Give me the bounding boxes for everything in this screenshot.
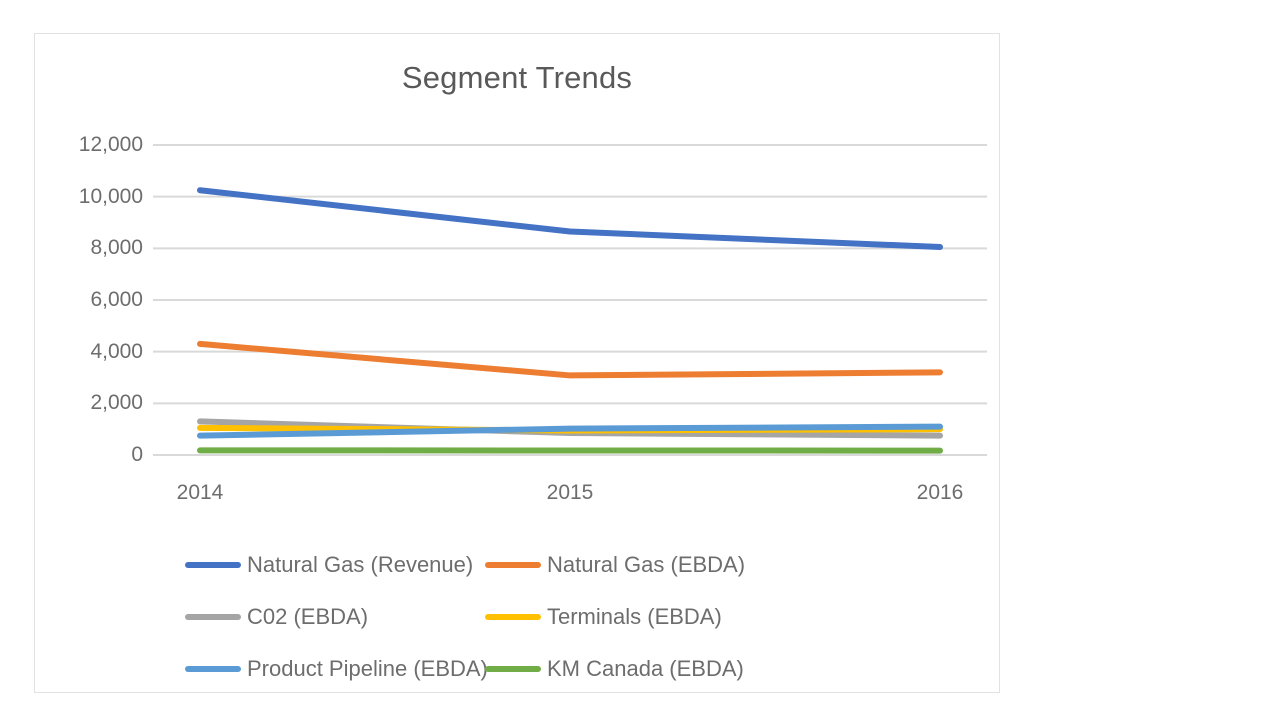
- legend-item-terminals-ebda[interactable]: Terminals (EBDA): [485, 606, 785, 628]
- legend-swatch-product-pipeline-ebda: [185, 666, 241, 672]
- legend-item-product-pipeline-ebda[interactable]: Product Pipeline (EBDA): [185, 658, 485, 680]
- legend-label-product-pipeline-ebda: Product Pipeline (EBDA): [247, 658, 488, 680]
- legend-item-km-canada-ebda[interactable]: KM Canada (EBDA): [485, 658, 785, 680]
- chart-frame: Segment Trends 12,00010,0008,0006,0004,0…: [34, 33, 1000, 693]
- legend-row: C02 (EBDA)Terminals (EBDA): [185, 591, 885, 643]
- legend-swatch-terminals-ebda: [485, 614, 541, 620]
- x-tick-label-2014: 2014: [120, 481, 280, 505]
- legend-row: Product Pipeline (EBDA)KM Canada (EBDA): [185, 643, 885, 695]
- legend-label-km-canada-ebda: KM Canada (EBDA): [547, 658, 744, 680]
- legend-label-natural-gas-revenue: Natural Gas (Revenue): [247, 554, 473, 576]
- legend-label-natural-gas-ebda: Natural Gas (EBDA): [547, 554, 745, 576]
- x-tick-label-2016: 2016: [860, 481, 1020, 505]
- legend-swatch-natural-gas-ebda: [485, 562, 541, 568]
- legend-row: Natural Gas (Revenue)Natural Gas (EBDA): [185, 539, 885, 591]
- legend-swatch-c02-ebda: [185, 614, 241, 620]
- legend-item-c02-ebda[interactable]: C02 (EBDA): [185, 606, 485, 628]
- legend-swatch-natural-gas-revenue: [185, 562, 241, 568]
- legend-label-c02-ebda: C02 (EBDA): [247, 606, 368, 628]
- legend-swatch-km-canada-ebda: [485, 666, 541, 672]
- x-tick-label-2015: 2015: [490, 481, 650, 505]
- legend-item-natural-gas-ebda[interactable]: Natural Gas (EBDA): [485, 554, 785, 576]
- chart-legend: Natural Gas (Revenue)Natural Gas (EBDA)C…: [185, 539, 885, 695]
- legend-label-terminals-ebda: Terminals (EBDA): [547, 606, 722, 628]
- legend-item-natural-gas-revenue[interactable]: Natural Gas (Revenue): [185, 554, 485, 576]
